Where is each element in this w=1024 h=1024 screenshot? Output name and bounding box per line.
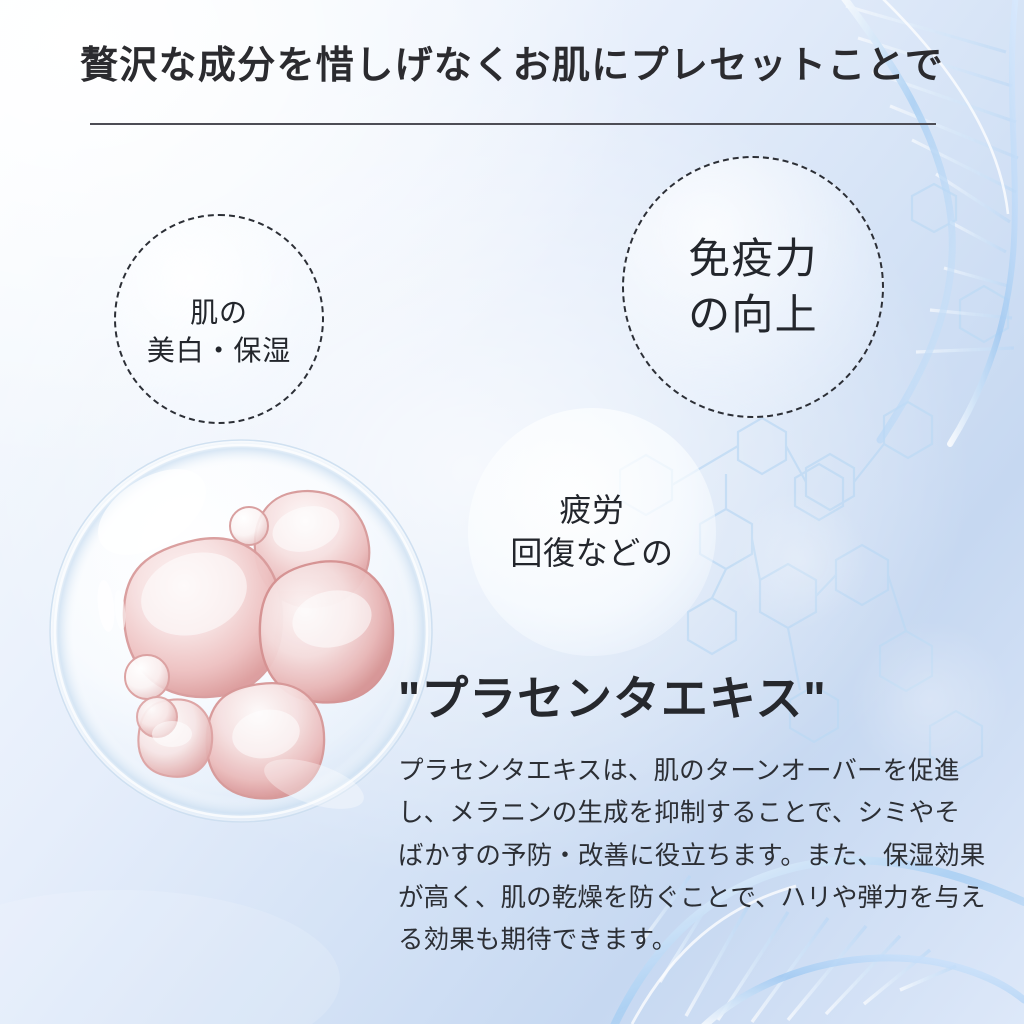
- benefit-circle-fatigue: 疲労 回復などの: [468, 408, 716, 656]
- headline-block: 贅沢な成分を惜しげなくお肌にプレセットことで: [0, 46, 1024, 88]
- benefit-circle-skin: 肌の 美白・保湿: [114, 214, 324, 424]
- page-title: 贅沢な成分を惜しげなくお肌にプレセットことで: [0, 46, 1024, 88]
- ingredient-title: "プラセンタエキス": [398, 660, 998, 729]
- promo-banner: 贅沢な成分を惜しげなくお肌にプレセットことで 肌の 美白・保湿 免疫力 の向上 …: [0, 0, 1024, 1024]
- benefit-circle-skin-label: 肌の 美白・保湿: [147, 268, 291, 369]
- ingredient-description: プラセンタエキスは、肌のターンオーバーを促進し、メラニンの生成を抑制することで、…: [398, 750, 986, 962]
- hexagon-glow-icon: [730, 490, 1010, 780]
- benefit-circle-immunity: 免疫力 の向上: [622, 156, 884, 418]
- placenta-bubble-sphere-illustration: [44, 434, 438, 828]
- headline-divider: [90, 123, 936, 125]
- benefit-circle-immunity-label: 免疫力 の向上: [688, 231, 818, 344]
- light-wash-decoration: [0, 890, 340, 1024]
- benefit-circle-fatigue-label: 疲労 回復などの: [510, 489, 673, 575]
